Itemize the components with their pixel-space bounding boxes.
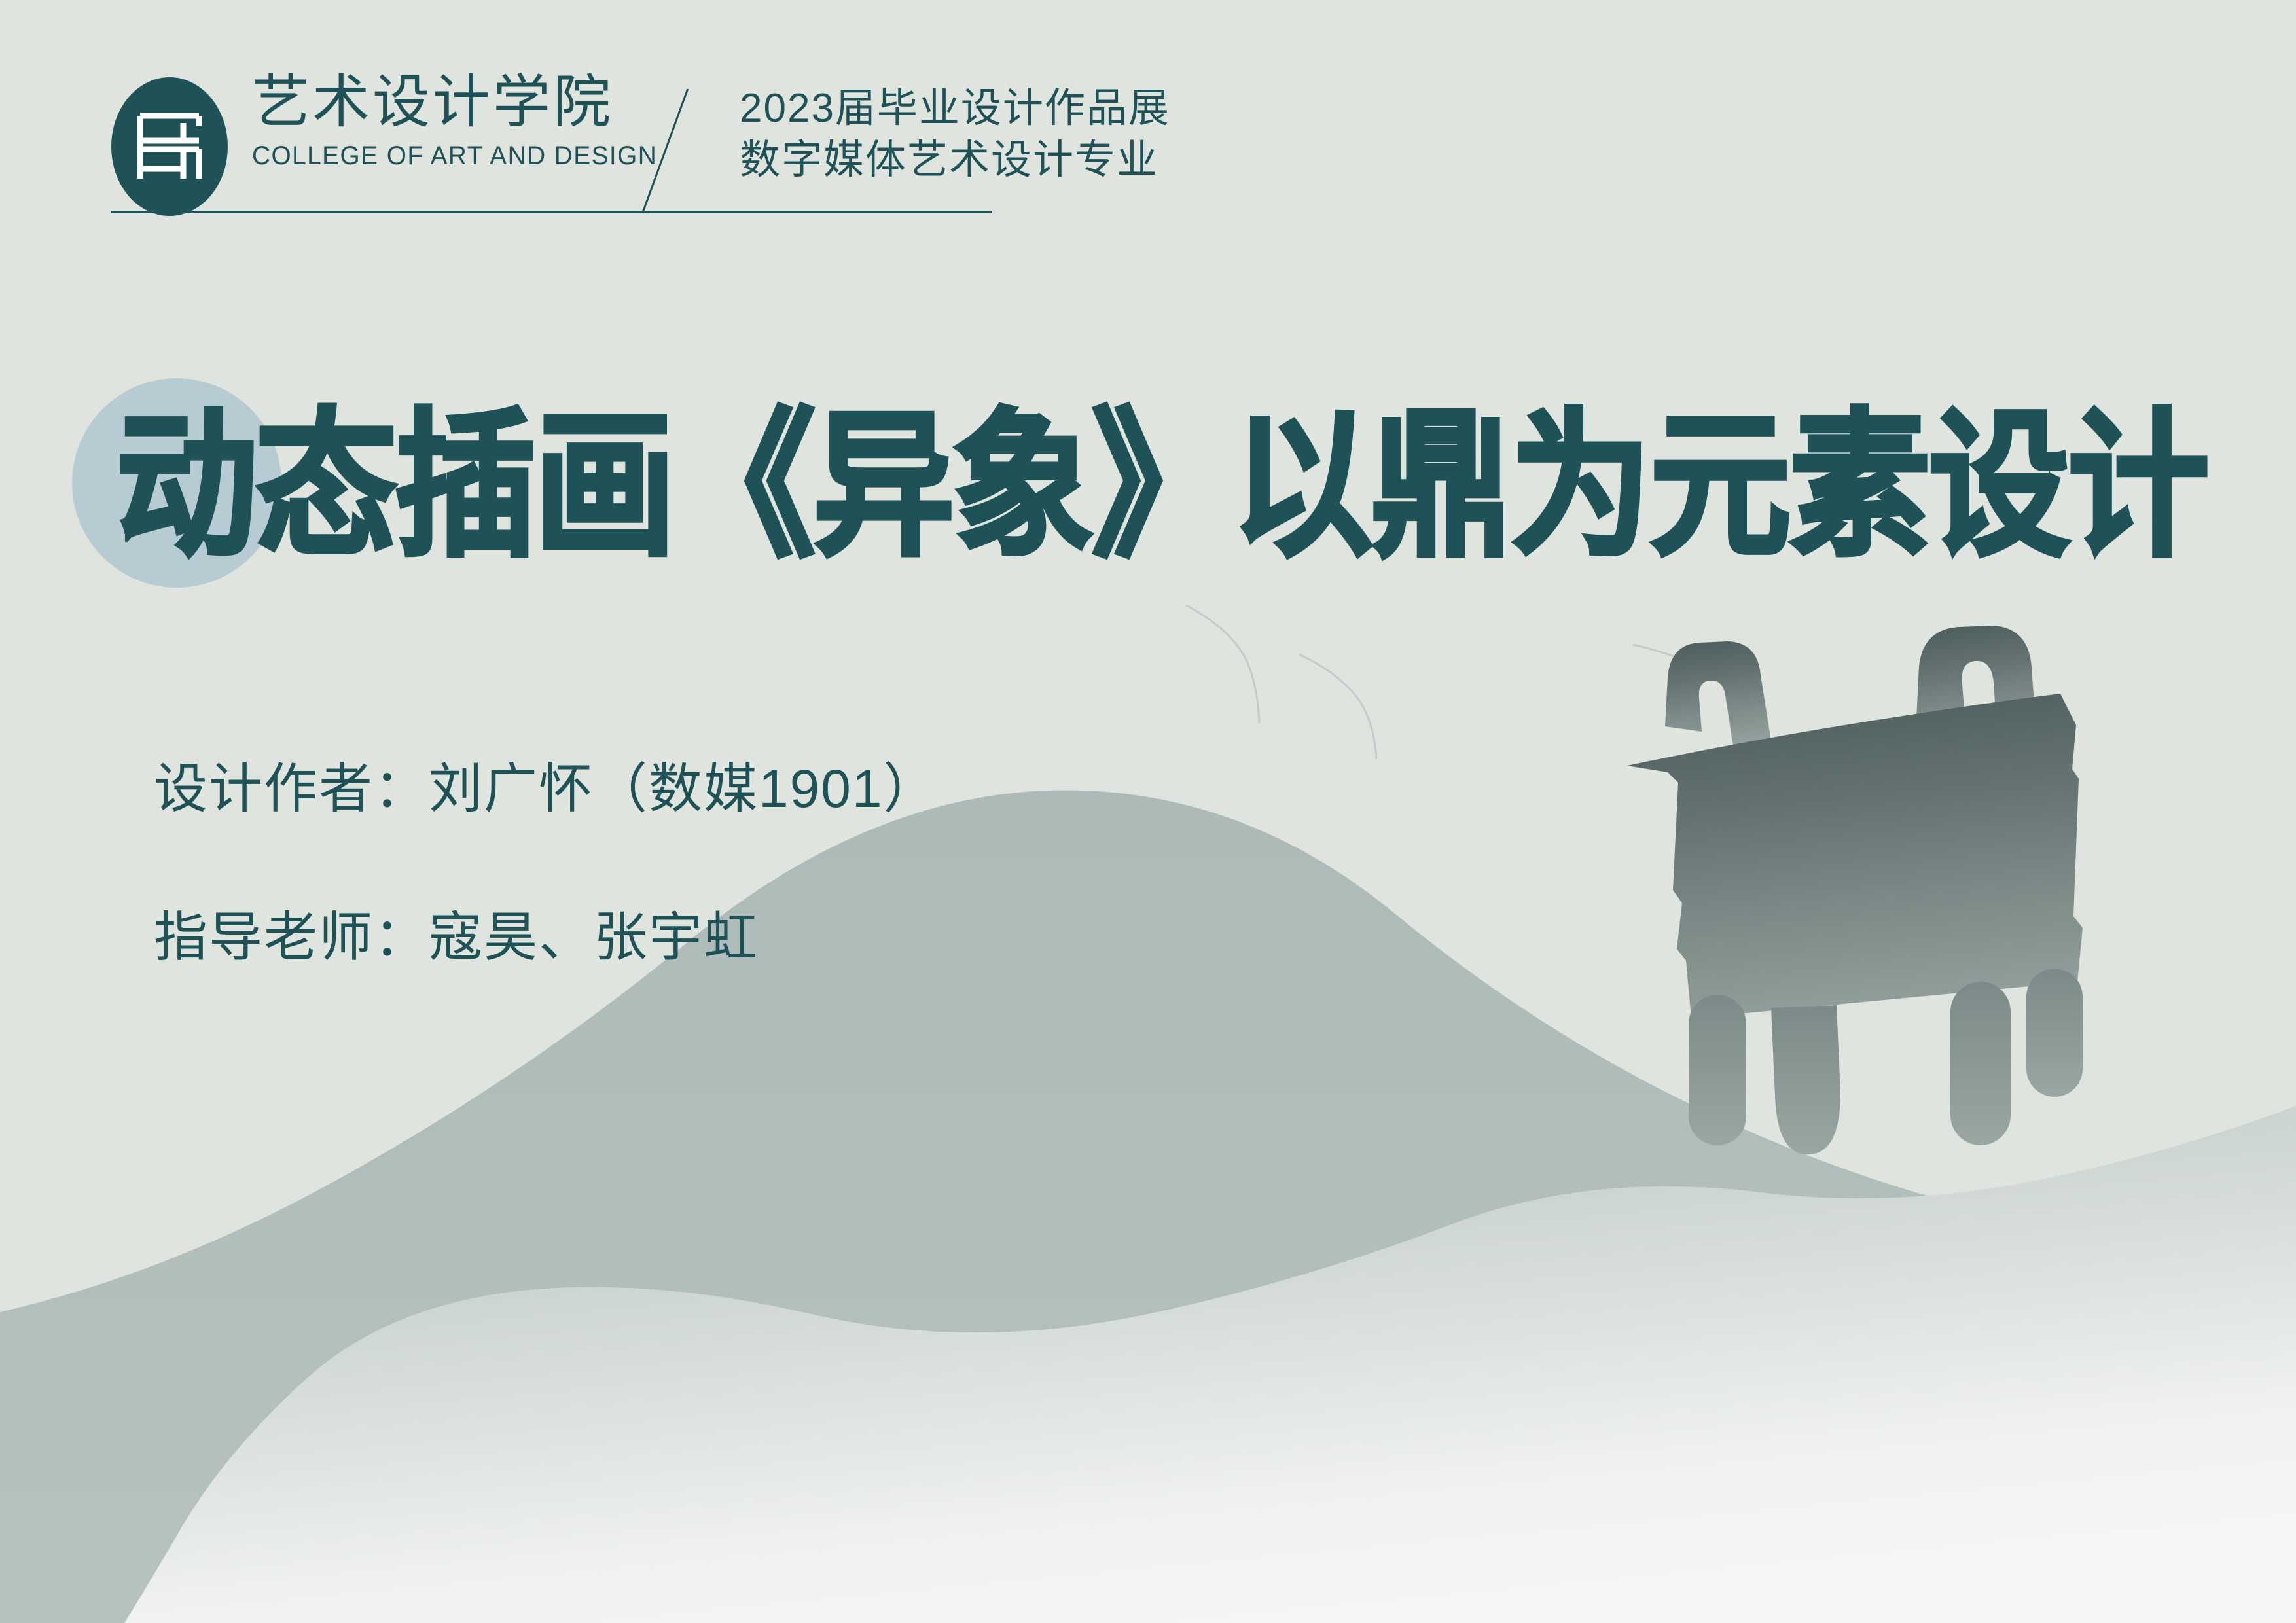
exhibition-info: 2023届毕业设计作品展 数字媒体艺术设计专业 [740, 82, 1145, 187]
page-title: 动态插画《异象》以鼎为元素设计 [117, 407, 2208, 565]
ding-leg-right [2026, 969, 2083, 1097]
header-divider [111, 211, 992, 213]
credit-advisor: 指导老师：寇昊、张宇虹 [154, 911, 1201, 965]
credits-block: 设计作者：刘广怀（数媒1901） 指导老师：寇昊、张宇虹 [154, 762, 1201, 965]
ding-leg-back-left [1689, 995, 1746, 1145]
college-name-cn: 艺术设计学院 [252, 73, 619, 131]
college-identity: 艺术设计学院 COLLEGE OF ART AND DESIGN [252, 73, 619, 169]
college-seal-icon [111, 77, 228, 216]
ding-leg-back-right [1950, 982, 2011, 1145]
exhibition-major: 数字媒体艺术设计专业 [740, 134, 1145, 186]
ding-leg-front-left [1771, 1005, 1840, 1154]
header: 艺术设计学院 COLLEGE OF ART AND DESIGN 2023届毕业… [111, 59, 1158, 209]
poster-canvas: 艺术设计学院 COLLEGE OF ART AND DESIGN 2023届毕业… [0, 0, 2296, 1623]
credit-author: 设计作者：刘广怀（数媒1901） [154, 762, 1201, 816]
exhibition-title: 2023届毕业设计作品展 [740, 82, 1145, 134]
college-name-en: COLLEGE OF ART AND DESIGN [252, 143, 607, 169]
